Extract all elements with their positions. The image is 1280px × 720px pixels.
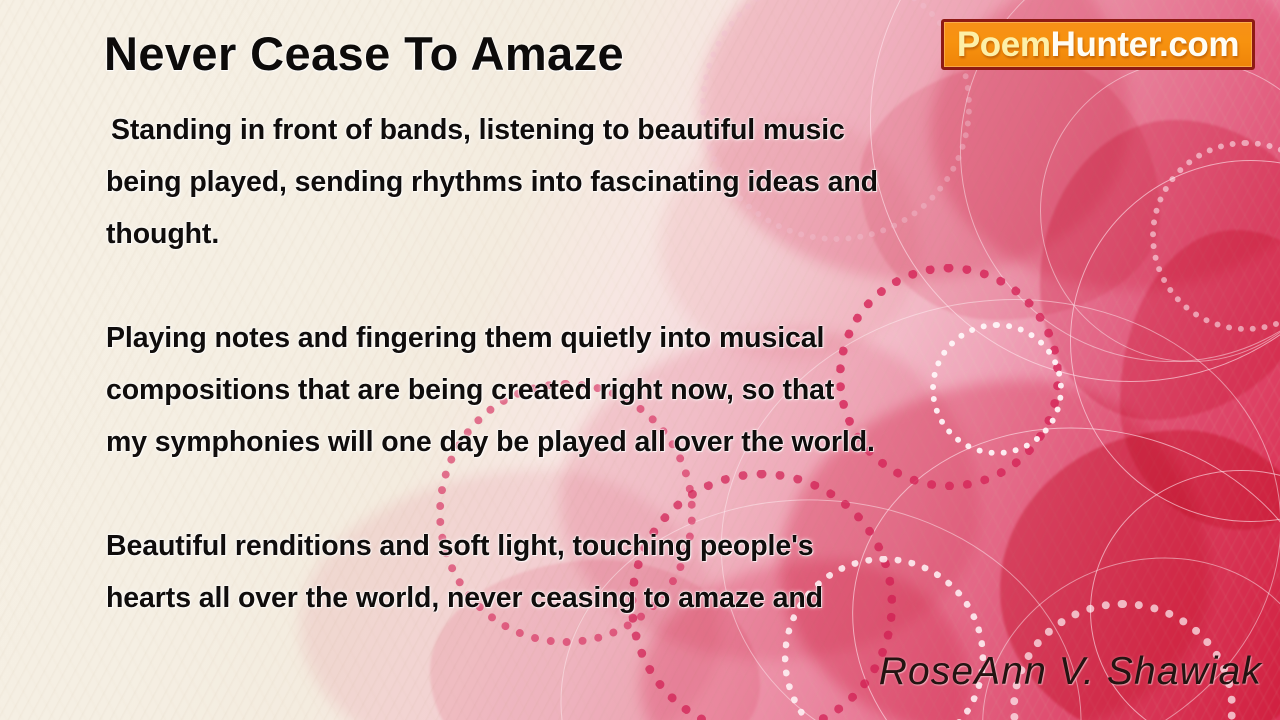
poem-author: RoseAnn V. Shawiak [879, 650, 1262, 694]
poem-line: Beautiful renditions and soft light, tou… [106, 520, 1126, 572]
poem-image-canvas: Never Cease To Amaze PoemHunter.com Stan… [0, 0, 1280, 720]
poemhunter-logo[interactable]: PoemHunter.com [941, 19, 1255, 70]
poem-line: compositions that are being created righ… [106, 364, 1126, 416]
poem-title: Never Cease To Amaze [104, 26, 624, 81]
poem-line: hearts all over the world, never ceasing… [106, 572, 1126, 624]
logo-text-hunter: Hunter.com [1051, 25, 1240, 64]
poem-line: thought. [106, 208, 1126, 260]
poem-line: Playing notes and fingering them quietly… [106, 312, 1126, 364]
poem-body: Standing in front of bands, listening to… [106, 104, 1126, 624]
poem-stanza: Standing in front of bands, listening to… [106, 104, 1126, 260]
poem-line: being played, sending rhythms into fasci… [106, 156, 1126, 208]
poem-line: Standing in front of bands, listening to… [106, 104, 1126, 156]
logo-text-wrapper: PoemHunter.com [957, 27, 1239, 62]
poem-stanza: Beautiful renditions and soft light, tou… [106, 520, 1126, 624]
logo-text-poem: Poem [957, 25, 1051, 64]
poem-stanza: Playing notes and fingering them quietly… [106, 312, 1126, 468]
poem-line: my symphonies will one day be played all… [106, 416, 1126, 468]
